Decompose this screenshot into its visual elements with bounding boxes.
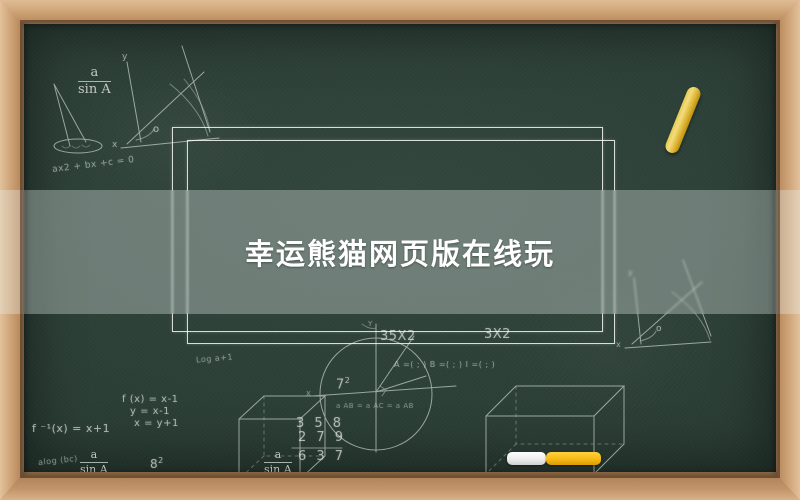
chalkboard-banner: a sin A ax2 + bx +c = 0 y x o y x o f (x…: [0, 0, 800, 500]
frame-inner-shadow: [22, 22, 778, 476]
